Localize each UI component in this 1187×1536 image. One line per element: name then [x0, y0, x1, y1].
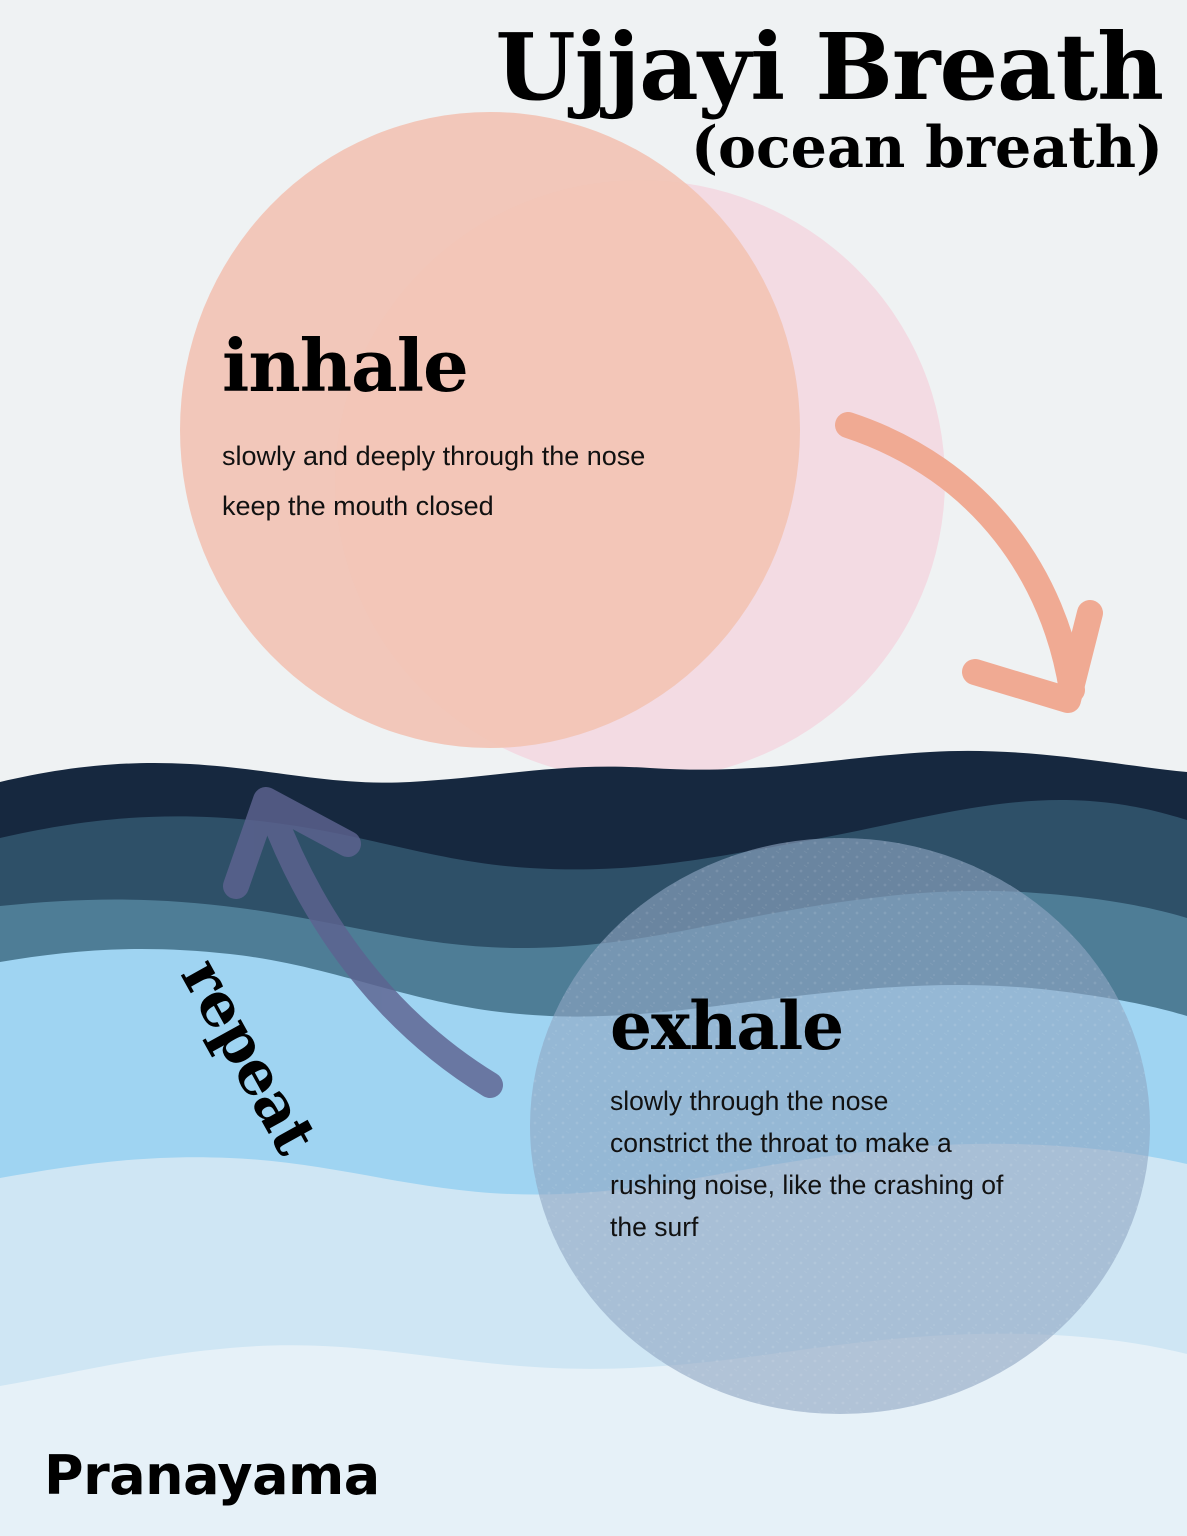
title-block: Ujjayi Breath (ocean breath)	[495, 22, 1163, 178]
page-subtitle: (ocean breath)	[495, 118, 1163, 178]
inhale-description: slowly and deeply through the nose keep …	[222, 432, 842, 532]
exhale-line: slowly through the nose	[610, 1081, 1130, 1123]
exhale-description: slowly through the nose constrict the th…	[610, 1081, 1130, 1248]
exhale-heading: exhale	[610, 993, 1130, 1059]
footer-word: Pranayama	[44, 1444, 380, 1507]
repeat-arrow-layer	[0, 0, 1187, 1536]
inhale-line: keep the mouth closed	[222, 482, 842, 532]
inhale-line: slowly and deeply through the nose	[222, 432, 842, 482]
page-title: Ujjayi Breath	[495, 22, 1163, 112]
exhale-line: the surf	[610, 1207, 1130, 1249]
inhale-heading: inhale	[222, 330, 842, 402]
exhale-line: rushing noise, like the crashing of	[610, 1165, 1130, 1207]
ujjayi-breath-poster: Ujjayi Breath (ocean breath) inhale slow…	[0, 0, 1187, 1536]
inhale-block: inhale slowly and deeply through the nos…	[222, 330, 842, 532]
exhale-block: exhale slowly through the nose constrict…	[610, 993, 1130, 1248]
exhale-line: constrict the throat to make a	[610, 1123, 1130, 1165]
